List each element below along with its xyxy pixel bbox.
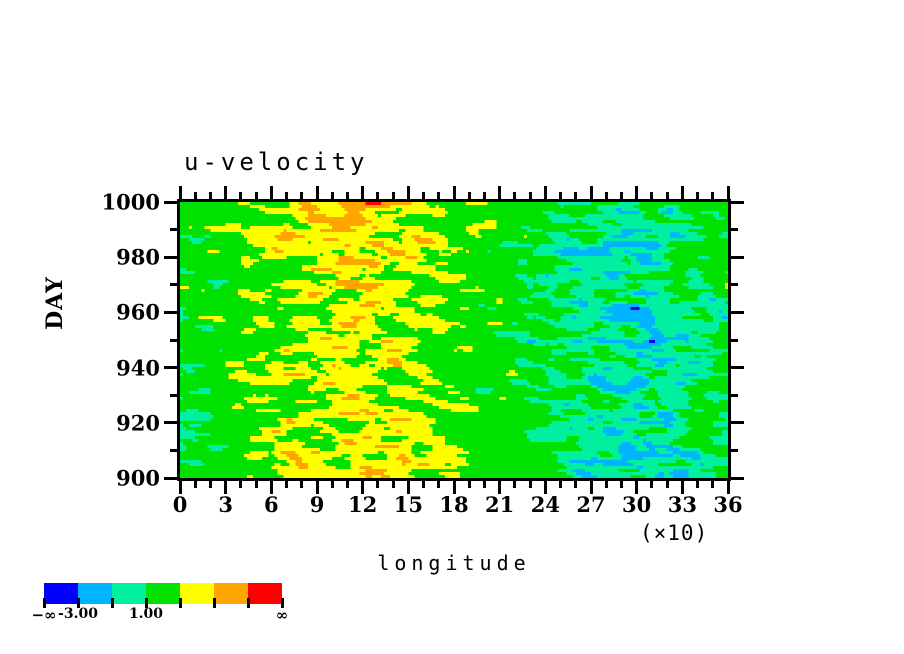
x-axis-tick-minor xyxy=(376,481,379,488)
colorbar-band xyxy=(248,583,282,604)
x-axis-tick-major-top xyxy=(179,186,182,199)
x-axis-tick-minor-top xyxy=(620,192,623,199)
y-axis-tick-major xyxy=(164,421,177,424)
x-axis-tick-label: 12 xyxy=(348,492,377,517)
x-axis-tick-minor-top xyxy=(209,192,212,199)
y-axis-tick-minor xyxy=(170,339,177,342)
x-axis-tick-minor xyxy=(513,481,516,488)
x-axis-tick-minor-top xyxy=(346,192,349,199)
colorbar-tick xyxy=(179,598,182,608)
x-axis-tick-label: 33 xyxy=(668,492,697,517)
y-axis-tick-major-right xyxy=(731,256,744,259)
x-axis-tick-label: 30 xyxy=(622,492,651,517)
x-axis-tick-major-top xyxy=(727,186,730,199)
x-axis-tick-minor xyxy=(194,481,197,488)
y-axis-tick-major-right xyxy=(731,366,744,369)
colorbar-band xyxy=(214,583,248,604)
y-axis-tick-major xyxy=(164,256,177,259)
x-axis-tick-minor xyxy=(529,481,532,488)
x-axis-tick-major-top xyxy=(498,186,501,199)
x-axis-tick-label: 0 xyxy=(173,492,188,517)
y-axis-tick-minor xyxy=(170,449,177,452)
y-axis-tick-minor-right xyxy=(731,228,738,231)
x-axis-tick-minor xyxy=(346,481,349,488)
colorbar-band xyxy=(112,583,146,604)
x-axis-tick-minor xyxy=(300,481,303,488)
page-title: u-velocity xyxy=(184,148,369,176)
x-axis-tick-minor xyxy=(483,481,486,488)
x-axis-tick-minor xyxy=(331,481,334,488)
colorbar-band xyxy=(180,583,214,604)
x-axis-title: longitude xyxy=(180,551,728,575)
y-axis-tick-major xyxy=(164,477,177,480)
x-axis-tick-minor-top xyxy=(696,192,699,199)
x-axis-tick-minor-top xyxy=(331,192,334,199)
x-axis-tick-minor-top xyxy=(194,192,197,199)
y-axis-tick-major xyxy=(164,311,177,314)
x-axis-tick-minor-top xyxy=(529,192,532,199)
x-axis-tick-minor-top xyxy=(574,192,577,199)
x-axis-tick-major-top xyxy=(453,186,456,199)
y-axis-tick-label: 900 xyxy=(40,466,160,491)
colorbar-band xyxy=(146,583,180,604)
colorbar-tick xyxy=(111,598,114,608)
x-axis-tick-minor-top xyxy=(285,192,288,199)
y-axis-tick-minor-right xyxy=(731,339,738,342)
x-axis-tick-minor xyxy=(650,481,653,488)
x-axis-multiplier-label: (×10) xyxy=(640,521,708,545)
x-axis-tick-major-top xyxy=(681,186,684,199)
x-axis-tick-minor-top xyxy=(559,192,562,199)
y-axis-tick-minor-right xyxy=(731,394,738,397)
y-axis-tick-major-right xyxy=(731,201,744,204)
x-axis-tick-minor-top xyxy=(422,192,425,199)
y-axis-title: DAY xyxy=(42,243,68,363)
colorbar-label: −∞ xyxy=(31,606,56,624)
y-axis-tick-major-right xyxy=(731,477,744,480)
x-axis-tick-minor-top xyxy=(711,192,714,199)
y-axis-tick-label: 920 xyxy=(40,410,160,435)
x-axis-tick-minor xyxy=(437,481,440,488)
heatmap-image xyxy=(180,202,728,478)
x-axis-tick-label: 18 xyxy=(439,492,468,517)
x-axis-tick-minor-top xyxy=(437,192,440,199)
x-axis-tick-minor-top xyxy=(300,192,303,199)
x-axis-tick-label: 15 xyxy=(394,492,423,517)
x-axis-tick-minor xyxy=(422,481,425,488)
y-axis-tick-minor xyxy=(170,228,177,231)
x-axis-tick-minor xyxy=(392,481,395,488)
y-axis-tick-major-right xyxy=(731,421,744,424)
y-axis-tick-minor-right xyxy=(731,283,738,286)
x-axis-tick-minor-top xyxy=(376,192,379,199)
colorbar-tick xyxy=(247,598,250,608)
axis-line-bottom xyxy=(180,478,731,481)
y-axis-tick-minor xyxy=(170,283,177,286)
x-axis-tick-major-top xyxy=(361,186,364,199)
x-axis-tick-minor-top xyxy=(392,192,395,199)
x-axis-tick-minor xyxy=(574,481,577,488)
x-axis-tick-minor-top xyxy=(650,192,653,199)
x-axis-tick-major-top xyxy=(544,186,547,199)
x-axis-tick-minor xyxy=(559,481,562,488)
x-axis-tick-label: 24 xyxy=(531,492,560,517)
x-axis-tick-minor xyxy=(696,481,699,488)
x-axis-tick-major-top xyxy=(635,186,638,199)
x-axis-tick-minor-top xyxy=(255,192,258,199)
axis-line-left xyxy=(177,199,180,481)
x-axis-tick-label: 6 xyxy=(264,492,279,517)
x-axis-tick-major-top xyxy=(407,186,410,199)
x-axis-tick-minor xyxy=(285,481,288,488)
colorbar-band xyxy=(78,583,112,604)
x-axis-tick-minor-top xyxy=(468,192,471,199)
x-axis-tick-major-top xyxy=(590,186,593,199)
colorbar-label: 1.00 xyxy=(129,606,163,622)
x-axis-tick-minor-top xyxy=(605,192,608,199)
y-axis-tick-major xyxy=(164,201,177,204)
x-axis-tick-label: 3 xyxy=(218,492,233,517)
x-axis-tick-label: 9 xyxy=(310,492,325,517)
x-axis-tick-label: 27 xyxy=(576,492,605,517)
y-axis-tick-major-right xyxy=(731,311,744,314)
figure-canvas: u-velocity 03691215182124273033369009209… xyxy=(0,0,904,654)
x-axis-tick-label: 36 xyxy=(713,492,742,517)
axis-line-top xyxy=(180,199,731,202)
y-axis-tick-minor-right xyxy=(731,449,738,452)
x-axis-tick-major-top xyxy=(270,186,273,199)
x-axis-tick-minor-top xyxy=(666,192,669,199)
x-axis-tick-minor xyxy=(605,481,608,488)
y-axis-tick-label: 1000 xyxy=(40,190,160,215)
colorbar-tick xyxy=(213,598,216,608)
x-axis-tick-major-top xyxy=(224,186,227,199)
x-axis-tick-minor xyxy=(209,481,212,488)
x-axis-tick-minor-top xyxy=(239,192,242,199)
x-axis-tick-major-top xyxy=(316,186,319,199)
x-axis-tick-minor-top xyxy=(483,192,486,199)
x-axis-tick-label: 21 xyxy=(485,492,514,517)
colorbar-band xyxy=(44,583,78,604)
y-axis-tick-major xyxy=(164,366,177,369)
colorbar-label: -3.00 xyxy=(58,606,98,622)
x-axis-tick-minor xyxy=(255,481,258,488)
y-axis-tick-minor xyxy=(170,394,177,397)
x-axis-tick-minor xyxy=(711,481,714,488)
heatmap-plot-area xyxy=(180,202,728,478)
x-axis-tick-minor xyxy=(666,481,669,488)
x-axis-tick-minor xyxy=(620,481,623,488)
x-axis-tick-minor-top xyxy=(513,192,516,199)
x-axis-tick-minor xyxy=(239,481,242,488)
x-axis-tick-minor xyxy=(468,481,471,488)
colorbar-label: ∞ xyxy=(276,606,289,624)
